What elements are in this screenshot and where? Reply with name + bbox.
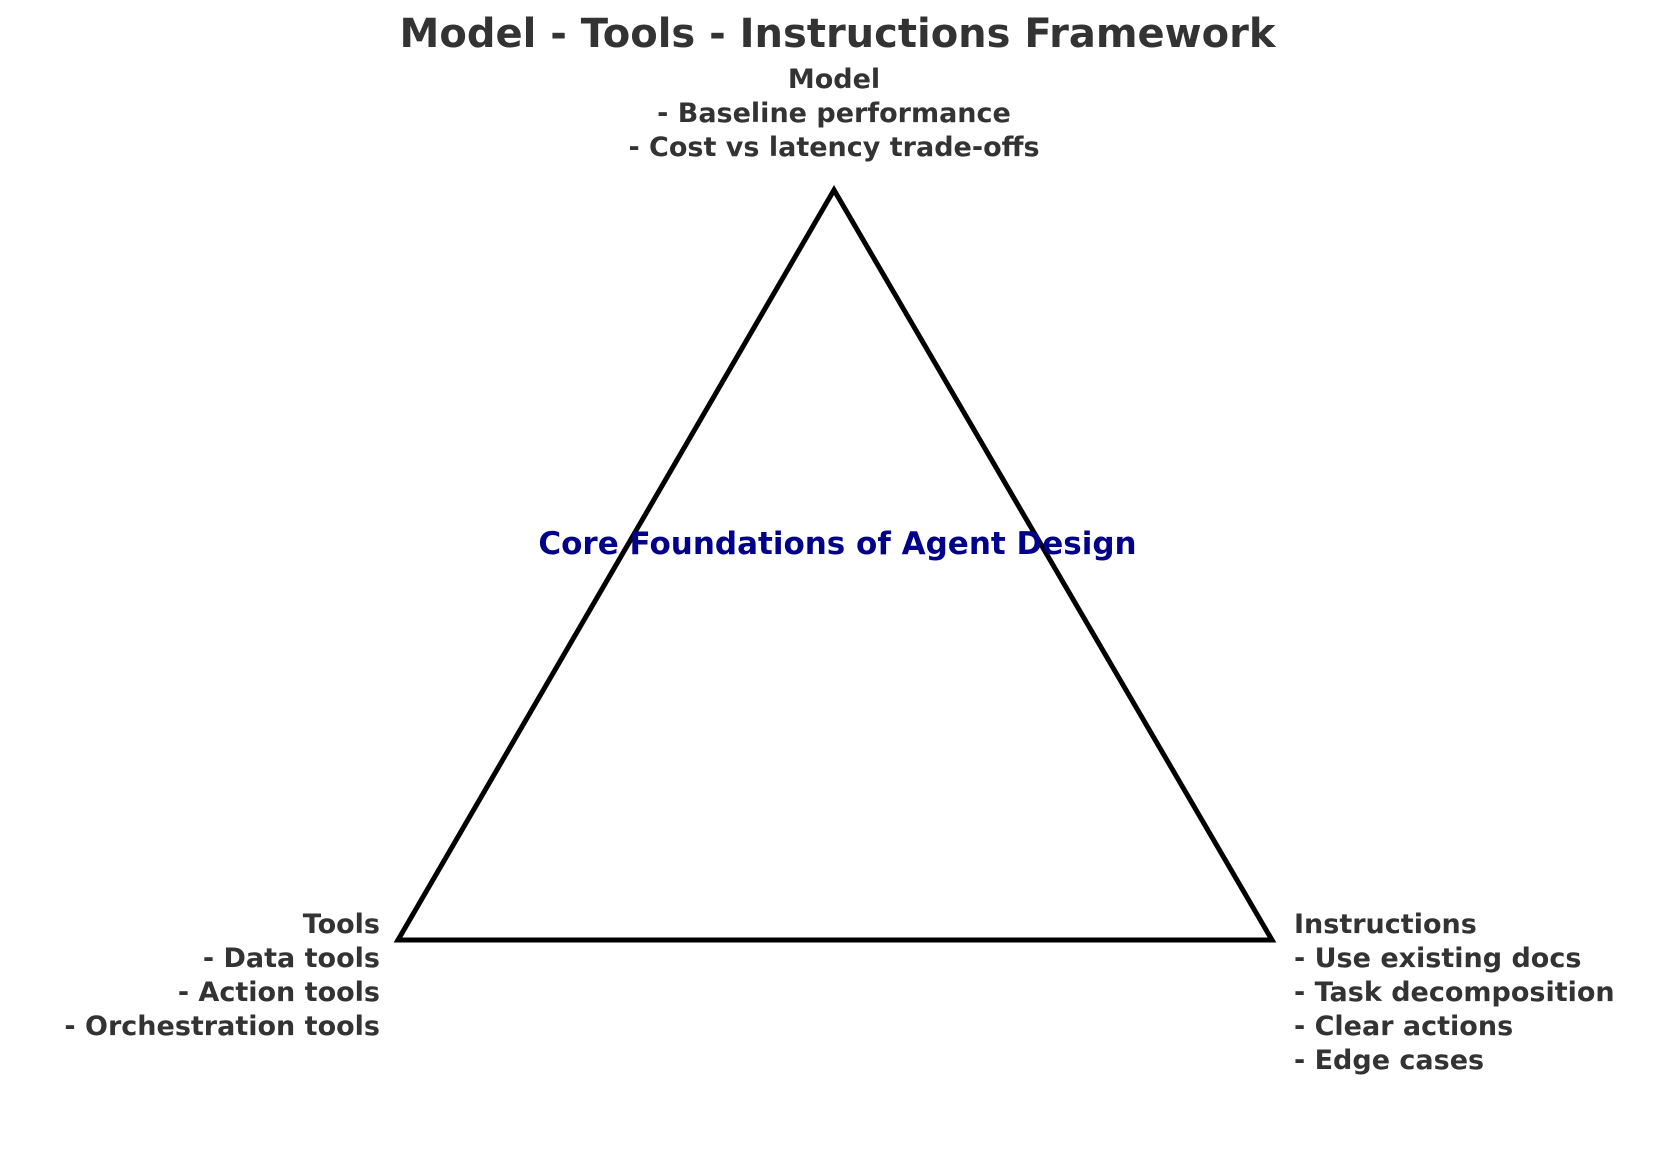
page-title: Model - Tools - Instructions Framework — [0, 12, 1675, 57]
instructions-corner-block: Instructions - Use existing docs - Task … — [1294, 908, 1675, 1078]
tools-item-0: - Data tools — [0, 942, 380, 976]
figure-canvas: Model - Tools - Instructions Framework M… — [0, 0, 1675, 1159]
tools-corner-block: Tools - Data tools - Action tools - Orch… — [0, 908, 380, 1044]
model-corner-block: Model - Baseline performance - Cost vs l… — [334, 63, 1334, 165]
instructions-item-3: - Edge cases — [1294, 1044, 1675, 1078]
tools-item-1: - Action tools — [0, 976, 380, 1010]
tools-item-2: - Orchestration tools — [0, 1010, 380, 1044]
instructions-heading: Instructions — [1294, 908, 1675, 942]
tools-heading: Tools — [0, 908, 380, 942]
instructions-item-1: - Task decomposition — [1294, 976, 1675, 1010]
model-heading: Model — [334, 63, 1334, 97]
model-item-1: - Cost vs latency trade-offs — [334, 131, 1334, 165]
instructions-item-2: - Clear actions — [1294, 1010, 1675, 1044]
triangle-outline — [398, 190, 1272, 940]
center-label: Core Foundations of Agent Design — [0, 526, 1675, 562]
instructions-item-0: - Use existing docs — [1294, 942, 1675, 976]
model-item-0: - Baseline performance — [334, 97, 1334, 131]
